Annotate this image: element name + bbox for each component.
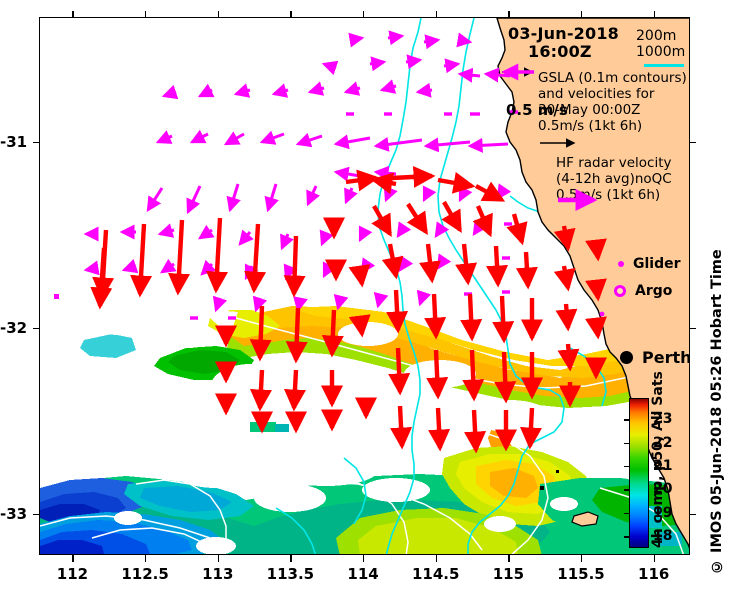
- y-tick-label: -32: [0, 319, 27, 337]
- x-tick-mark: [508, 555, 509, 562]
- colorbar[interactable]: 181920212223: [629, 398, 649, 548]
- y-tick-mark: [33, 142, 40, 143]
- x-tick-mark: [581, 555, 582, 562]
- x-tick-mark: [218, 555, 219, 562]
- colorbar-tick-mark: [624, 536, 629, 538]
- y-tick-mark-right: [689, 142, 696, 143]
- glider-marker-icon: [617, 260, 625, 268]
- x-tick-mark-top: [145, 11, 146, 18]
- legend-sample-arrows: [490, 58, 690, 218]
- x-tick-label: 114.5: [412, 565, 459, 583]
- x-tick-label: 113.5: [267, 565, 314, 583]
- x-tick-mark-top: [436, 11, 437, 18]
- bathy-200m-label: 200m: [636, 28, 676, 45]
- x-tick-mark-top: [72, 11, 73, 18]
- x-tick-label: 115: [493, 565, 524, 583]
- city-perth[interactable]: Perth: [620, 348, 690, 367]
- argo-label: Argo: [635, 283, 672, 299]
- x-tick-mark-top: [218, 11, 219, 18]
- x-tick-mark: [654, 555, 655, 562]
- figure-root: 03-Jun-2018 16:00Z 200m 1000m GSLA (0.1m…: [0, 0, 739, 592]
- colorbar-tick-mark: [624, 513, 629, 515]
- colorbar-title: 4h comp, p50, All Sats: [650, 398, 666, 548]
- colorbar-gradient: [629, 398, 649, 548]
- x-tick-mark: [72, 555, 73, 562]
- x-tick-mark-top: [508, 11, 509, 18]
- colorbar-tick-mark: [624, 443, 629, 445]
- x-tick-mark-top: [581, 11, 582, 18]
- legend-glider: Glider: [618, 256, 681, 272]
- x-tick-label: 114: [347, 565, 378, 583]
- x-tick-mark: [145, 555, 146, 562]
- x-tick-mark: [436, 555, 437, 562]
- x-tick-mark-top: [654, 11, 655, 18]
- y-tick-mark-right: [689, 514, 696, 515]
- argo-marker-icon: [614, 285, 626, 297]
- x-tick-mark: [363, 555, 364, 562]
- x-tick-mark-top: [290, 11, 291, 18]
- map-plot-area[interactable]: 03-Jun-2018 16:00Z 200m 1000m GSLA (0.1m…: [39, 17, 690, 555]
- y-tick-label: -31: [0, 133, 27, 151]
- x-tick-mark: [290, 555, 291, 562]
- x-tick-mark-top: [363, 11, 364, 18]
- y-tick-mark-right: [689, 328, 696, 329]
- x-tick-label: 115.5: [557, 565, 604, 583]
- colorbar-tick-mark: [624, 489, 629, 491]
- colorbar-tick-mark: [624, 466, 629, 468]
- y-tick-mark: [33, 328, 40, 329]
- perth-dot: [620, 351, 633, 364]
- y-tick-label: -33: [0, 505, 27, 523]
- glider-label: Glider: [633, 256, 681, 272]
- legend-argo: Argo: [614, 283, 672, 299]
- x-tick-label: 113: [202, 565, 233, 583]
- colorbar-tick-mark: [624, 419, 629, 421]
- perth-label: Perth: [642, 348, 690, 367]
- y-tick-mark: [33, 514, 40, 515]
- credit-text: © IMOS 05-Jun-2018 05:26 Hobart Time: [709, 18, 725, 574]
- x-tick-label: 116: [638, 565, 669, 583]
- x-tick-label: 112.5: [121, 565, 168, 583]
- x-tick-label: 112: [57, 565, 88, 583]
